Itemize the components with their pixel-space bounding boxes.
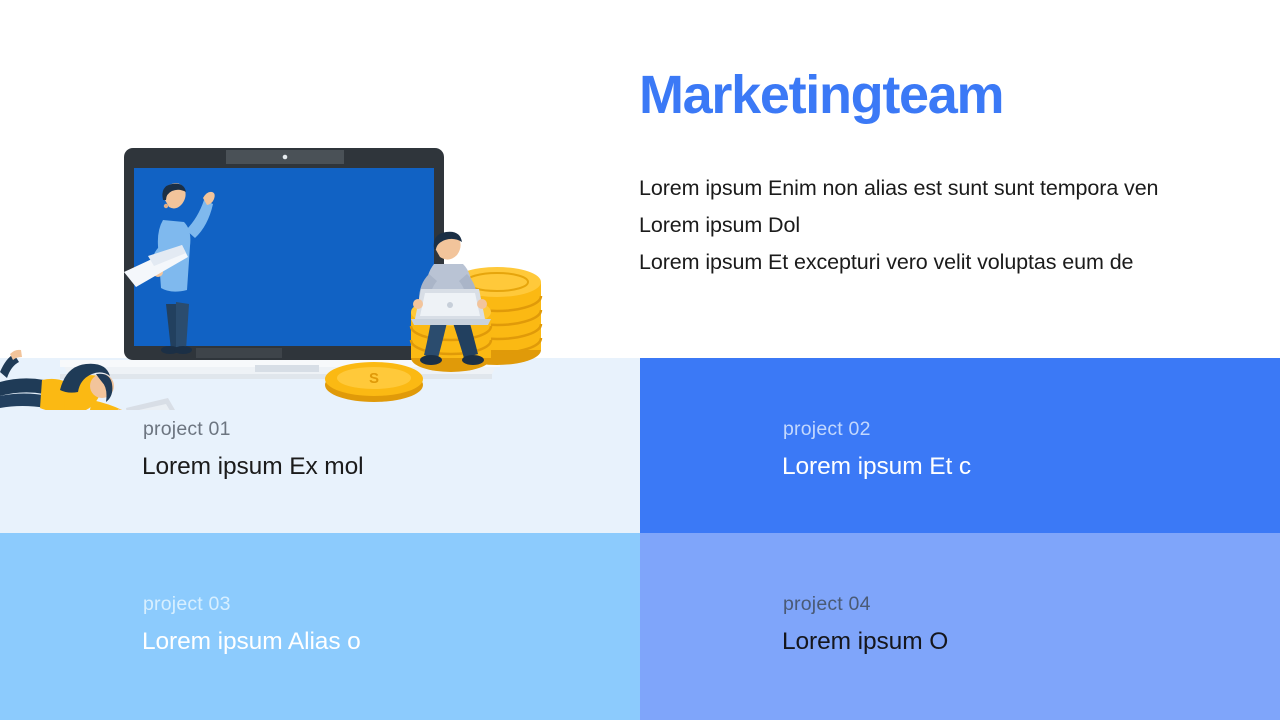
slide-canvas: project 01 Lorem ipsum Ex mol project 02…: [0, 0, 1280, 720]
project-card-03-kicker: project 03: [143, 595, 231, 615]
svg-text:S: S: [369, 370, 379, 387]
page-title: Marketingteam: [639, 68, 1003, 122]
project-card-04-kicker: project 04: [783, 595, 871, 615]
body-copy-line-3: Lorem ipsum Et excepturi vero velit volu…: [639, 244, 1259, 281]
hero-illustration: S: [0, 60, 570, 410]
body-copy-line-2: Lorem ipsum Dol: [639, 207, 1259, 244]
project-card-04-title: Lorem ipsum O: [782, 627, 948, 658]
body-copy-line-1: Lorem ipsum Enim non alias est sunt sunt…: [639, 170, 1259, 207]
project-card-01-title: Lorem ipsum Ex mol: [142, 452, 364, 483]
project-card-02[interactable]: project 02 Lorem ipsum Et c: [640, 358, 1280, 533]
project-card-02-kicker: project 02: [783, 420, 871, 440]
project-card-03-title: Lorem ipsum Alias o: [142, 627, 361, 658]
project-card-01-kicker: project 01: [143, 420, 231, 440]
project-card-02-title: Lorem ipsum Et c: [782, 452, 971, 483]
project-card-04[interactable]: project 04 Lorem ipsum O: [640, 533, 1280, 720]
project-card-grid: project 01 Lorem ipsum Ex mol project 02…: [0, 358, 1280, 720]
project-card-03[interactable]: project 03 Lorem ipsum Alias o: [0, 533, 640, 720]
body-copy: Lorem ipsum Enim non alias est sunt sunt…: [639, 170, 1259, 281]
